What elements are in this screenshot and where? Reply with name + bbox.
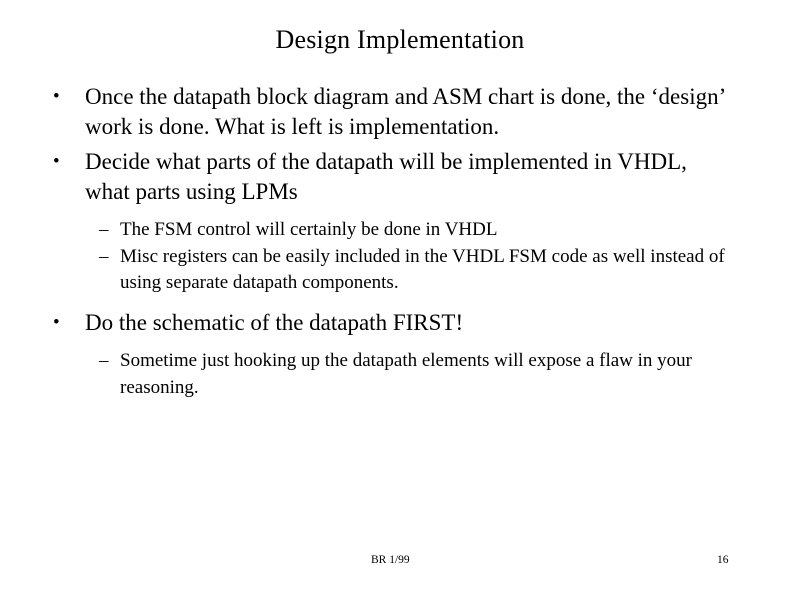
dash-icon: – xyxy=(99,217,109,244)
sub-bullet-item-1: – The FSM control will certainly be done… xyxy=(0,217,800,244)
bullet-item-2: • Decide what parts of the datapath will… xyxy=(0,147,800,206)
sub-bullet-item-3: – Sometime just hooking up the datapath … xyxy=(0,348,800,401)
sub-bullet-item-1-text: The FSM control will certainly be done i… xyxy=(120,217,745,244)
bullet-item-3: • Do the schematic of the datapath FIRST… xyxy=(0,308,800,338)
sub-bullet-item-3-text: Sometime just hooking up the datapath el… xyxy=(120,348,745,401)
bullet-item-2-text: Decide what parts of the datapath will b… xyxy=(85,147,735,206)
slide-footer: BR 1/99 16 xyxy=(0,552,800,572)
dash-icon: – xyxy=(99,348,109,375)
bullet-item-1: • Once the datapath block diagram and AS… xyxy=(0,82,800,141)
spacer xyxy=(0,297,800,308)
bullet-item-1-text: Once the datapath block diagram and ASM … xyxy=(85,82,735,141)
spacer xyxy=(0,337,800,348)
presentation-slide: Design Implementation • Once the datapat… xyxy=(0,0,800,600)
dash-icon: – xyxy=(99,244,109,271)
page-title: Design Implementation xyxy=(0,24,800,56)
sub-bullet-item-2-text: Misc registers can be easily included in… xyxy=(120,244,745,297)
slide-body: • Once the datapath block diagram and AS… xyxy=(0,82,800,401)
footer-credit: BR 1/99 xyxy=(371,552,410,568)
bullet-dot-icon: • xyxy=(53,308,60,338)
spacer xyxy=(0,206,800,217)
bullet-dot-icon: • xyxy=(53,82,60,112)
page-number: 16 xyxy=(717,552,729,568)
bullet-dot-icon: • xyxy=(53,147,60,177)
bullet-item-3-text: Do the schematic of the datapath FIRST! xyxy=(85,308,735,338)
sub-bullet-item-2: – Misc registers can be easily included … xyxy=(0,244,800,297)
